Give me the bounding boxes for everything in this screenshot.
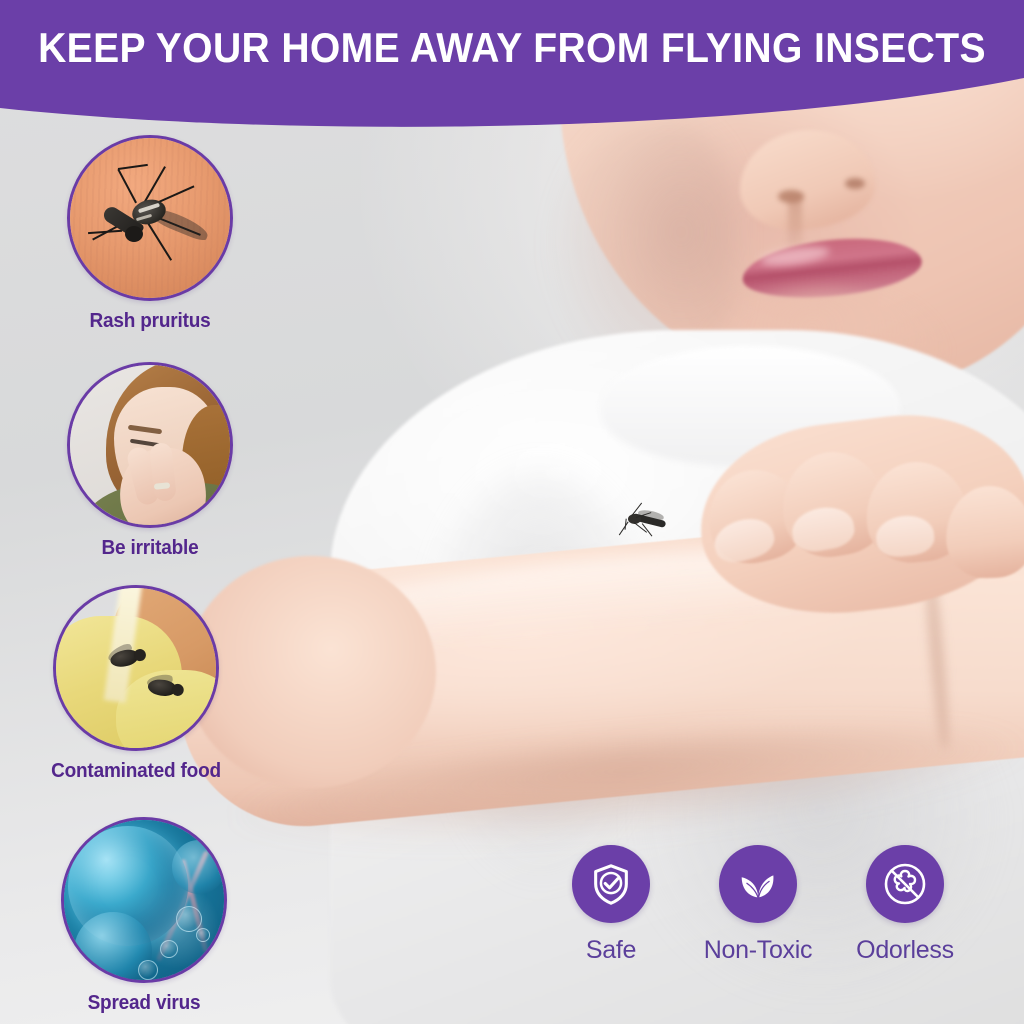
problem-label: Be irritable: [8, 537, 293, 560]
fly-head: [171, 683, 185, 697]
food-illustration: [56, 588, 216, 748]
mosquito-head: [125, 226, 143, 242]
virus-bubble: [138, 960, 158, 980]
badge-label: Non-Toxic: [695, 936, 821, 965]
problem-item-be-irritable[interactable]: Be irritable: [0, 362, 300, 560]
badge-disc: [572, 845, 650, 923]
problem-label: Spread virus: [2, 992, 287, 1015]
nostril-right: [845, 178, 865, 189]
leaves-icon: [735, 861, 781, 907]
virus-bubble: [196, 928, 210, 942]
virus-illustration: [64, 820, 224, 980]
badge-disc: [719, 845, 797, 923]
badge-odorless[interactable]: Odorless: [842, 845, 968, 965]
problem-image-rash-pruritus: [67, 135, 233, 301]
problem-item-contaminated-food[interactable]: Contaminated food: [0, 585, 286, 783]
woman-illustration: [70, 365, 230, 525]
badge-label: Odorless: [842, 936, 968, 965]
virus-bubble: [176, 906, 202, 932]
badge-label: Safe: [548, 936, 674, 965]
problem-label: Rash pruritus: [8, 310, 293, 333]
badge-non-toxic[interactable]: Non-Toxic: [695, 845, 821, 965]
product-feature-poster: KEEP YOUR HOME AWAY FROM FLYING INSECTS: [0, 0, 1024, 1024]
badge-disc: [866, 845, 944, 923]
mosquito-leg: [143, 166, 166, 203]
mosquito-on-arm: [618, 505, 678, 539]
problem-image-be-irritable: [67, 362, 233, 528]
mosquito-illustration: [92, 172, 212, 272]
no-odor-icon: [881, 860, 929, 908]
badge-safe[interactable]: Safe: [548, 845, 674, 965]
virus-bubble: [160, 940, 178, 958]
shield-check-icon: [588, 861, 634, 907]
mosquito-leg: [117, 169, 136, 203]
problem-label: Contaminated food: [0, 760, 279, 783]
feature-badges: Safe Non-Toxic Odorless: [548, 845, 968, 995]
problem-item-spread-virus[interactable]: Spread virus: [0, 817, 294, 1015]
problem-item-rash-pruritus[interactable]: Rash pruritus: [0, 135, 300, 333]
problem-image-contaminated-food: [53, 585, 219, 751]
virus-cell: [172, 840, 226, 894]
problem-list: Rash pruritus Be irritable: [0, 0, 300, 1024]
problem-image-spread-virus: [61, 817, 227, 983]
